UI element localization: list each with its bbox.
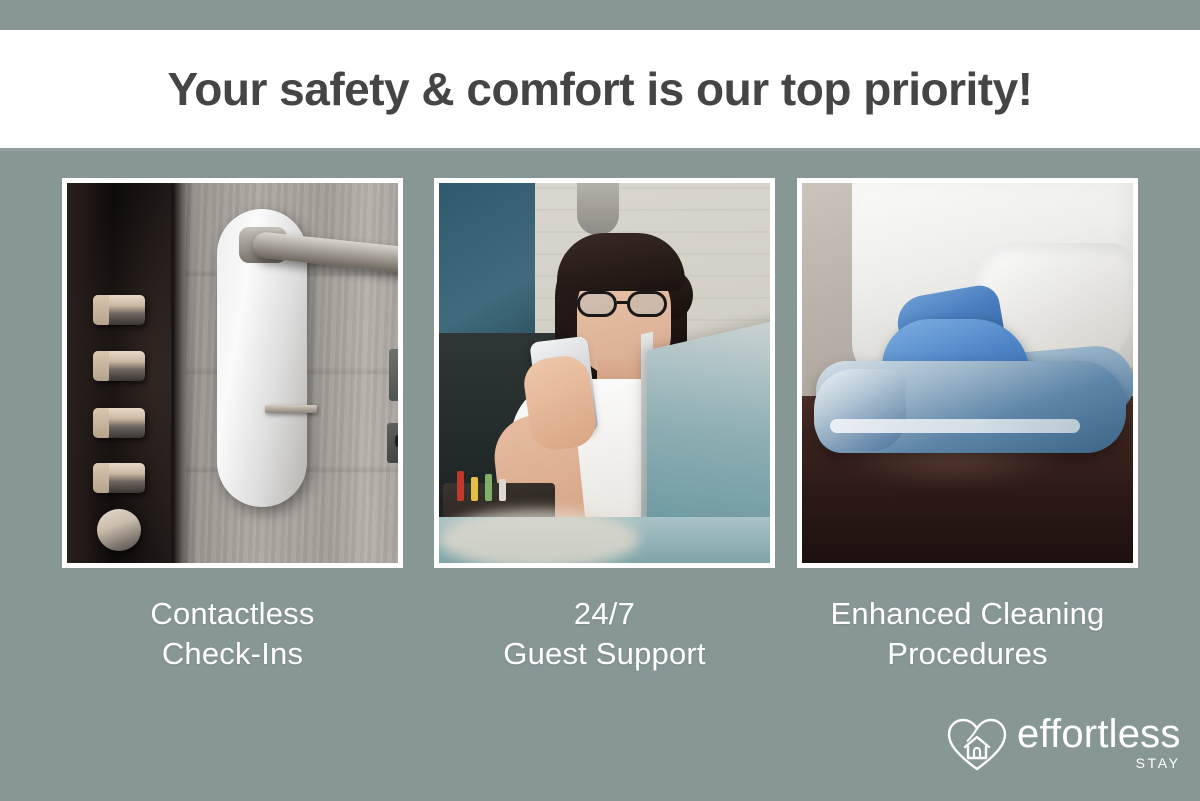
feature-cards: KEYTAL SYSTEM <box>0 178 1200 578</box>
pen-holder <box>453 469 525 501</box>
brand-logo: effortless STAY <box>945 706 1145 782</box>
guest-support-photo <box>439 183 770 563</box>
deadbolt-pin <box>93 463 145 493</box>
keycard-system-plate: KEYTAL SYSTEM <box>389 349 398 401</box>
caption-guest-support: 24/7 Guest Support <box>434 594 775 674</box>
pen <box>457 471 464 501</box>
logo-wordmark: effortless <box>1017 713 1181 755</box>
caption-line-1: 24/7 <box>574 596 635 631</box>
caption-line-2: Guest Support <box>434 634 775 674</box>
feature-card-enhanced-cleaning <box>797 178 1138 568</box>
caption-contactless-check-ins: Contactless Check-Ins <box>62 594 403 674</box>
logo-subtext: STAY <box>1017 755 1181 771</box>
lock-knob <box>97 509 141 551</box>
heart-house-icon <box>945 714 1009 774</box>
feature-card-guest-support <box>434 178 775 568</box>
cloth-fold <box>814 369 906 451</box>
deadbolt-pin <box>93 408 145 438</box>
caption-line-1: Contactless <box>150 596 314 631</box>
feature-card-contactless-check-ins: KEYTAL SYSTEM <box>62 178 403 568</box>
pen <box>485 474 492 501</box>
cloth-edge-highlight <box>830 419 1080 433</box>
glasses-lens-right <box>627 291 667 317</box>
caption-line-1: Enhanced Cleaning <box>831 596 1105 631</box>
caption-enhanced-cleaning: Enhanced Cleaning Procedures <box>797 594 1138 674</box>
keyhole <box>395 435 398 447</box>
door-lock-photo: KEYTAL SYSTEM <box>67 183 398 563</box>
poster-canvas: Your safety & comfort is our top priorit… <box>0 0 1200 801</box>
feature-captions: Contactless Check-Ins 24/7 Guest Support… <box>0 594 1200 694</box>
pen <box>471 477 478 501</box>
deadbolt-pin <box>93 295 145 325</box>
headline-band: Your safety & comfort is our top priorit… <box>0 30 1200 148</box>
foreground-blur <box>439 509 639 563</box>
pen <box>499 479 506 501</box>
caption-line-2: Procedures <box>797 634 1138 674</box>
page-title: Your safety & comfort is our top priorit… <box>168 62 1033 116</box>
glasses-bridge <box>617 301 629 304</box>
caption-line-2: Check-Ins <box>62 634 403 674</box>
glasses-lens-left <box>577 291 617 317</box>
keyhole-block <box>387 423 398 463</box>
key-icon <box>265 405 317 413</box>
pendant-lamp <box>577 183 619 235</box>
eyeglasses-icon <box>575 291 673 317</box>
deadbolt-pin <box>93 351 145 381</box>
band-divider <box>0 148 1200 151</box>
hair-front <box>557 233 685 291</box>
cleaning-photo <box>802 183 1133 563</box>
top-accent-strip <box>0 0 1200 30</box>
logo-text: effortless STAY <box>1017 713 1181 771</box>
